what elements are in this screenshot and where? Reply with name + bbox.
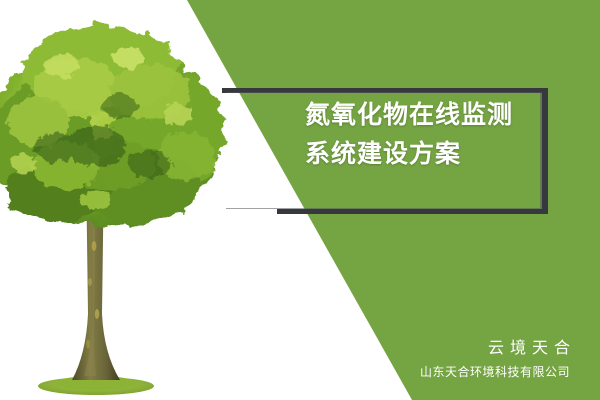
- brand-company: 山东天合环境科技有限公司: [420, 362, 570, 382]
- page-title: 氮氧化物在线监测 系统建设方案: [305, 95, 555, 173]
- brand-block: 云境天合 山东天合环境科技有限公司: [420, 336, 570, 382]
- brand-name: 云境天合: [420, 336, 576, 360]
- tree-illustration: [0, 14, 232, 400]
- title-line-2: 系统建设方案: [305, 134, 555, 173]
- title-line-1: 氮氧化物在线监测: [305, 95, 555, 134]
- slide-canvas: 氮氧化物在线监测 系统建设方案 云境天合 山东天合环境科技有限公司: [0, 0, 600, 400]
